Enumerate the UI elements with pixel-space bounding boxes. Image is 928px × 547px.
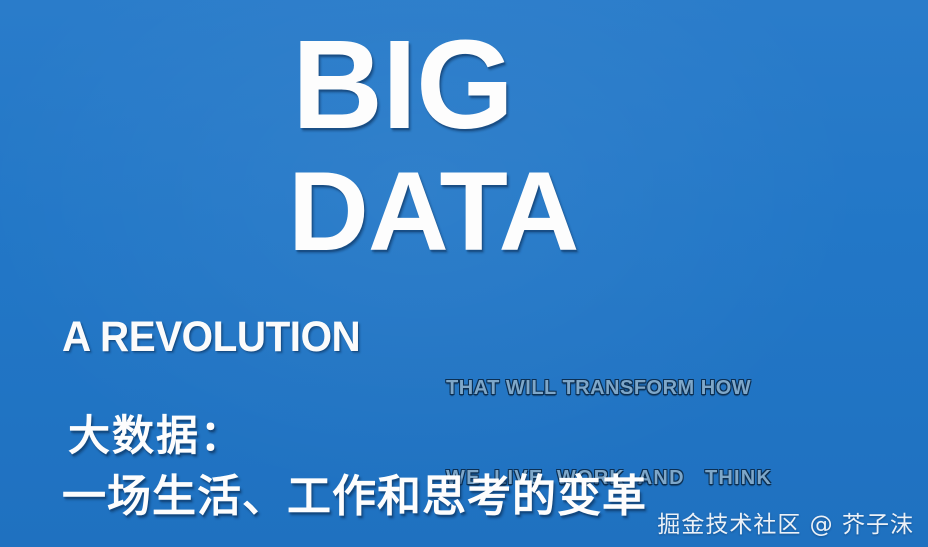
big-data-book-cover: BIG DATA A REVOLUTION THAT WILL TRANSFOR…: [0, 0, 928, 547]
headline-data: DATA: [288, 156, 578, 268]
tagline-line-1: THAT WILL TRANSFORM HOW: [446, 373, 772, 403]
chinese-title-line-2: 一场生活、工作和思考的变革: [62, 472, 647, 521]
chinese-title-line-1: 大数据：: [68, 412, 244, 459]
watermark-attribution: 掘金技术社区 @ 芥子沫: [657, 505, 914, 539]
subtitle-a-revolution: A REVOLUTION: [62, 313, 360, 362]
headline-big: BIG: [292, 22, 513, 148]
